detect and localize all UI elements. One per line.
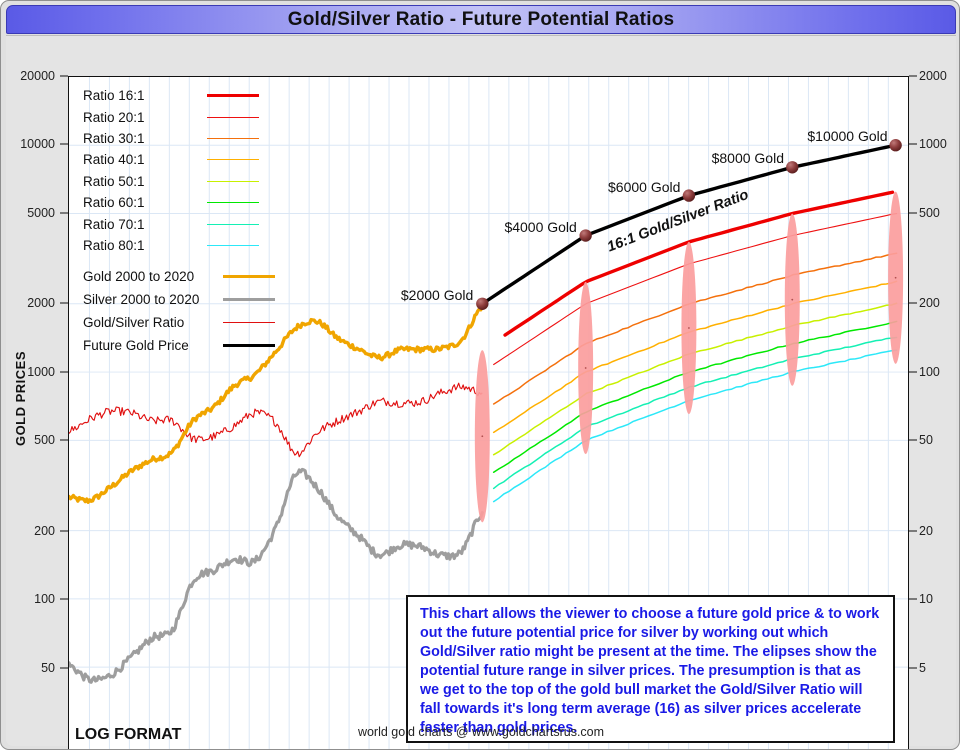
gold-marker-2000[interactable]	[476, 298, 488, 310]
ellipse-center-dot-2	[688, 327, 690, 329]
gold-marker-10000[interactable]	[889, 139, 901, 151]
y-tick-left-5-mark	[60, 440, 68, 441]
gold-marker-label-8000: $8000 Gold	[712, 150, 784, 166]
gold-marker-4000[interactable]	[579, 229, 591, 241]
y-tick-right-8-mark	[909, 667, 917, 668]
y-tick-right-0: 2000	[919, 69, 947, 83]
legend-item-ratio-0[interactable]: Ratio 16:1	[83, 85, 275, 106]
y-tick-right-1-mark	[909, 144, 917, 145]
ellipse-center-dot-1	[585, 367, 587, 369]
legend-label: Ratio 16:1	[83, 88, 207, 103]
legend-item-series-3[interactable]: Future Gold Price	[83, 334, 275, 357]
ellipse-center-dot-4	[895, 277, 897, 279]
y-tick-left-6-mark	[60, 530, 68, 531]
legend-item-ratio-1[interactable]: Ratio 20:1	[83, 106, 275, 127]
legend-color-swatch	[207, 117, 259, 118]
y-tick-right-8: 5	[919, 661, 926, 675]
y-tick-left-7-mark	[60, 599, 68, 600]
legend-item-ratio-5[interactable]: Ratio 60:1	[83, 192, 275, 213]
legend-item-ratio-2[interactable]: Ratio 30:1	[83, 128, 275, 149]
y-tick-right-2: 500	[919, 206, 940, 220]
legend-label: Future Gold Price	[83, 338, 223, 353]
legend-label: Ratio 30:1	[83, 131, 207, 146]
legend-label: Ratio 60:1	[83, 195, 207, 210]
y-tick-left-1-mark	[60, 144, 68, 145]
legend-color-swatch	[207, 94, 259, 97]
legend-color-swatch	[207, 181, 259, 182]
chart-window: Gold/Silver Ratio - Future Potential Rat…	[0, 0, 960, 750]
gold-marker-label-4000: $4000 Gold	[504, 219, 576, 235]
gold-marker-6000[interactable]	[683, 189, 695, 201]
legend-item-series-1[interactable]: Silver 2000 to 2020	[83, 288, 275, 311]
y-tick-right-5-mark	[909, 440, 917, 441]
y-tick-left-6: 200	[34, 524, 55, 538]
y-tick-left-1: 10000	[20, 137, 55, 151]
legend-label: Ratio 80:1	[83, 238, 207, 253]
plot-area: Ratio 16:1Ratio 20:1Ratio 30:1Ratio 40:1…	[68, 76, 909, 750]
legend-color-swatch	[223, 275, 275, 278]
gold-marker-label-6000: $6000 Gold	[608, 179, 680, 195]
chart-legend: Ratio 16:1Ratio 20:1Ratio 30:1Ratio 40:1…	[83, 85, 275, 357]
y-tick-right-0-mark	[909, 76, 917, 77]
y-tick-left-0: 20000	[20, 69, 55, 83]
y-tick-left-0-mark	[60, 76, 68, 77]
y-tick-right-3: 200	[919, 296, 940, 310]
ellipse-center-dot-0	[481, 435, 483, 437]
y-tick-right-7: 10	[919, 592, 933, 606]
legend-color-swatch	[207, 202, 259, 203]
legend-item-ratio-4[interactable]: Ratio 50:1	[83, 171, 275, 192]
y-tick-right-4-mark	[909, 371, 917, 372]
legend-color-swatch	[207, 224, 259, 225]
legend-color-swatch	[223, 298, 275, 301]
legend-group-series: Gold 2000 to 2020Silver 2000 to 2020Gold…	[83, 265, 275, 357]
legend-item-ratio-7[interactable]: Ratio 80:1	[83, 235, 275, 256]
legend-color-swatch	[207, 138, 259, 139]
explanatory-note-box: This chart allows the viewer to choose a…	[406, 595, 895, 743]
y-tick-left-3-mark	[60, 303, 68, 304]
y-tick-left-2-mark	[60, 212, 68, 213]
legend-label: Gold/Silver Ratio	[83, 315, 223, 330]
gold-marker-label-10000: $10000 Gold	[807, 128, 887, 144]
y-tick-right-4: 100	[919, 365, 940, 379]
gold-marker-8000[interactable]	[786, 161, 798, 173]
y-tick-right-3-mark	[909, 303, 917, 304]
legend-label: Silver 2000 to 2020	[83, 292, 223, 307]
legend-color-swatch	[223, 344, 275, 347]
legend-label: Ratio 50:1	[83, 174, 207, 189]
y-axis-left-title: GOLD PRICES	[13, 351, 28, 446]
legend-color-swatch	[207, 245, 259, 246]
explanatory-note-text: This chart allows the viewer to choose a…	[420, 605, 883, 738]
legend-item-ratio-3[interactable]: Ratio 40:1	[83, 149, 275, 170]
legend-item-series-2[interactable]: Gold/Silver Ratio	[83, 311, 275, 334]
page-title: Gold/Silver Ratio - Future Potential Rat…	[288, 9, 675, 31]
y-tick-right-6: 20	[919, 524, 933, 538]
chart-frame: GOLD PRICES SILVER PRICES 20000100005000…	[6, 35, 956, 746]
legend-color-swatch	[207, 159, 259, 160]
y-tick-left-5: 500	[34, 433, 55, 447]
y-tick-left-7: 100	[34, 592, 55, 606]
legend-label: Ratio 20:1	[83, 110, 207, 125]
legend-label: Ratio 40:1	[83, 152, 207, 167]
y-tick-left-4-mark	[60, 371, 68, 372]
legend-item-series-0[interactable]: Gold 2000 to 2020	[83, 265, 275, 288]
y-tick-left-8: 50	[41, 661, 55, 675]
legend-item-ratio-6[interactable]: Ratio 70:1	[83, 213, 275, 234]
y-tick-right-7-mark	[909, 599, 917, 600]
y-tick-left-3: 2000	[27, 296, 55, 310]
window-title-bar: Gold/Silver Ratio - Future Potential Rat…	[6, 5, 956, 34]
legend-color-swatch	[223, 322, 275, 323]
y-tick-right-5: 50	[919, 433, 933, 447]
y-tick-left-8-mark	[60, 667, 68, 668]
legend-label: Ratio 70:1	[83, 217, 207, 232]
chart-footer: world gold charts @ www.goldchartsrus.co…	[6, 725, 956, 739]
legend-group-ratios: Ratio 16:1Ratio 20:1Ratio 30:1Ratio 40:1…	[83, 85, 275, 256]
y-tick-right-6-mark	[909, 530, 917, 531]
y-tick-left-2: 5000	[27, 206, 55, 220]
gold-marker-label-2000: $2000 Gold	[401, 287, 473, 303]
y-tick-left-4: 1000	[27, 365, 55, 379]
legend-label: Gold 2000 to 2020	[83, 269, 223, 284]
ellipse-center-dot-3	[791, 299, 793, 301]
y-tick-right-2-mark	[909, 212, 917, 213]
y-tick-right-1: 1000	[919, 137, 947, 151]
